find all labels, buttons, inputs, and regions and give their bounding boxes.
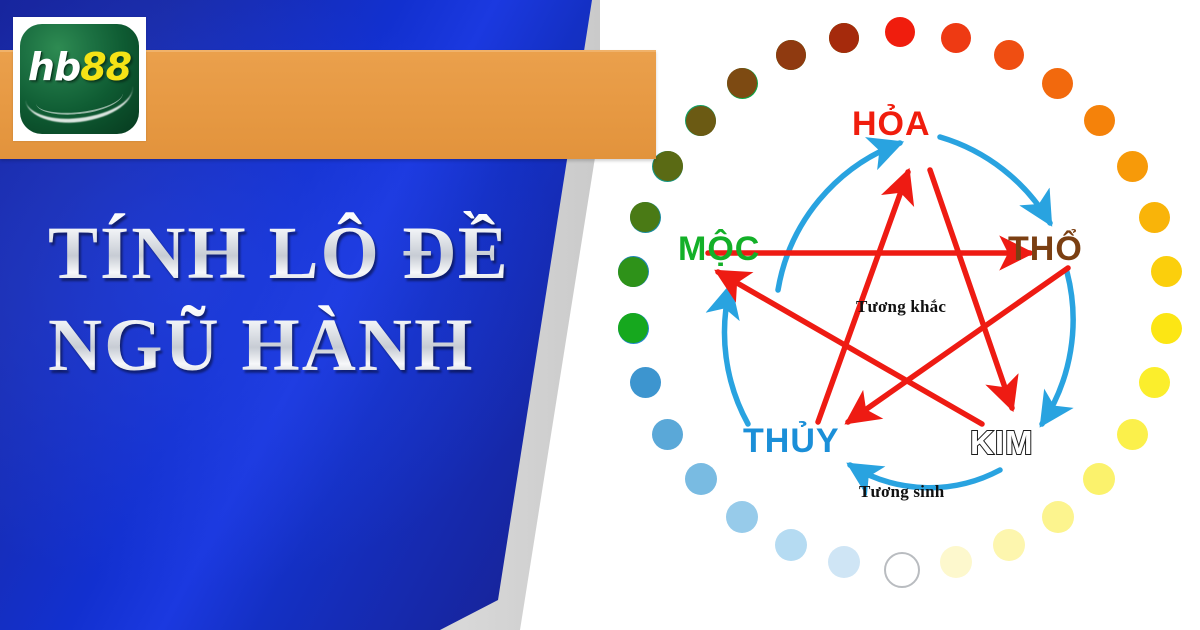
cycle-label-generative: Tương sinh xyxy=(859,482,944,502)
page-title-line-1: TÍNH LÔ ĐỀ xyxy=(48,208,568,300)
page-title: TÍNH LÔ ĐỀ NGŨ HÀNH xyxy=(48,208,568,391)
logo-tile: hb88 xyxy=(20,24,139,134)
arrow-kim-to-moc xyxy=(718,272,982,424)
arrow-tho-to-kim xyxy=(1042,272,1073,424)
element-label-kim[interactable]: KIM xyxy=(970,424,1034,462)
logo-wordmark: hb88 xyxy=(20,48,139,86)
element-label-thuy[interactable]: THỦY xyxy=(743,422,840,461)
element-label-hoa[interactable]: HỎA xyxy=(852,105,931,144)
logo-text-88: 88 xyxy=(80,45,131,89)
arrow-moc-to-hoa xyxy=(778,143,900,290)
element-label-moc[interactable]: MỘC xyxy=(678,230,760,269)
arrow-tho-to-thuy xyxy=(848,268,1068,422)
logo-text-hb: hb xyxy=(28,45,80,89)
arrow-hoa-to-tho xyxy=(940,137,1050,223)
arrow-hoa-to-kim xyxy=(930,170,1012,408)
hb88-logo[interactable]: hb88 xyxy=(13,17,146,141)
cycle-label-destructive: Tương khắc xyxy=(856,297,946,317)
poster-canvas: hb88 TÍNH LÔ ĐỀ NGŨ HÀNH xyxy=(0,0,1200,630)
arrow-thuy-to-moc xyxy=(724,287,748,424)
element-label-tho[interactable]: THỔ xyxy=(1008,230,1083,269)
left-banner: hb88 TÍNH LÔ ĐỀ NGŨ HÀNH xyxy=(0,0,700,630)
page-title-line-2: NGŨ HÀNH xyxy=(48,300,568,392)
ngu-hanh-diagram: HỎA THỔ KIM THỦY MỘC Tương khắc Tương si… xyxy=(600,0,1200,630)
